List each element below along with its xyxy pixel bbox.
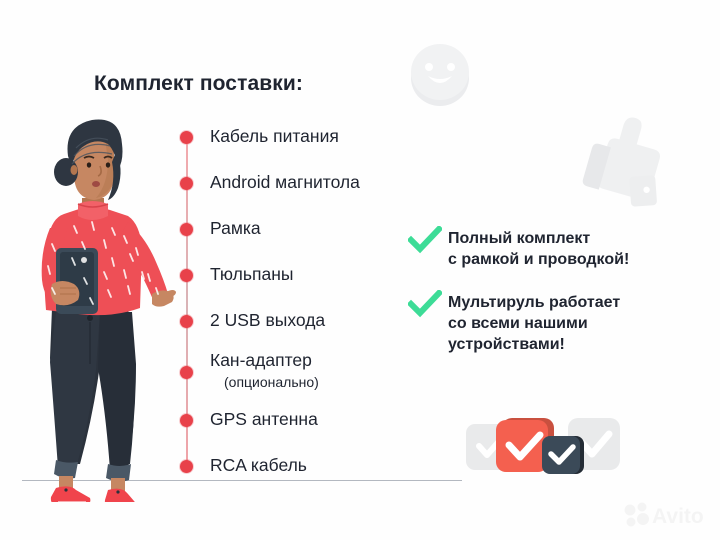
benefit-item: Мультируль работает со всеми нашими устр… xyxy=(408,292,708,355)
list-item: RCA кабель xyxy=(176,457,436,477)
list-item-label: Рамка xyxy=(210,220,436,238)
woman-pointing-with-tablet-illustration xyxy=(16,112,176,502)
thumbs-up-icon xyxy=(578,108,674,212)
benefit-line: устройствами! xyxy=(448,334,708,355)
bullet-dot xyxy=(180,315,193,328)
list-item-label: 2 USB выхода xyxy=(210,312,436,330)
list-item-sublabel: (опционально) xyxy=(224,375,436,389)
avito-watermark: Avito xyxy=(622,500,710,535)
bullet-dot xyxy=(180,223,193,236)
benefit-line: Полный комплект xyxy=(448,228,708,249)
list-item: Android магнитола xyxy=(176,174,436,194)
list-item: Тюльпаны xyxy=(176,266,436,286)
benefits-list: Полный комплект с рамкой и проводкой! Му… xyxy=(408,228,708,369)
list-item-label: GPS антенна xyxy=(210,411,436,429)
bullet-dot xyxy=(180,269,193,282)
bullet-dot xyxy=(180,366,193,379)
list-item-label: RCA кабель xyxy=(210,457,436,475)
page-title: Комплект поставки: xyxy=(94,72,303,96)
list-item-label: Тюльпаны xyxy=(210,266,436,284)
list-item: GPS антенна xyxy=(176,411,436,431)
green-check-icon xyxy=(408,290,442,318)
list-item-label: Кан-адаптер xyxy=(210,352,436,370)
benefit-item: Полный комплект с рамкой и проводкой! xyxy=(408,228,708,270)
green-check-icon xyxy=(408,226,442,254)
avito-watermark-text: Avito xyxy=(652,505,704,528)
bullet-dot xyxy=(180,177,193,190)
bullet-dot xyxy=(180,414,193,427)
bullet-dot xyxy=(180,131,193,144)
list-item: Рамка xyxy=(176,220,436,240)
checkbox-cluster-icon xyxy=(462,412,622,484)
list-item: Кабель питания xyxy=(176,128,436,148)
bullet-dot xyxy=(180,460,193,473)
list-item: Кан-адаптер (опционально) xyxy=(176,352,436,389)
list-item-label: Кабель питания xyxy=(210,128,436,146)
benefit-line: со всеми нашими xyxy=(448,313,708,334)
benefit-line: с рамкой и проводкой! xyxy=(448,249,708,270)
benefit-line: Мультируль работает xyxy=(448,292,708,313)
package-contents-list: Кабель питания Android магнитола Рамка Т… xyxy=(176,128,436,477)
smiley-face-icon xyxy=(404,38,476,110)
list-item: 2 USB выхода xyxy=(176,312,436,332)
slide-canvas: Комплект поставки: Кабель питания Androi… xyxy=(0,0,720,540)
list-item-label: Android магнитола xyxy=(210,174,436,192)
